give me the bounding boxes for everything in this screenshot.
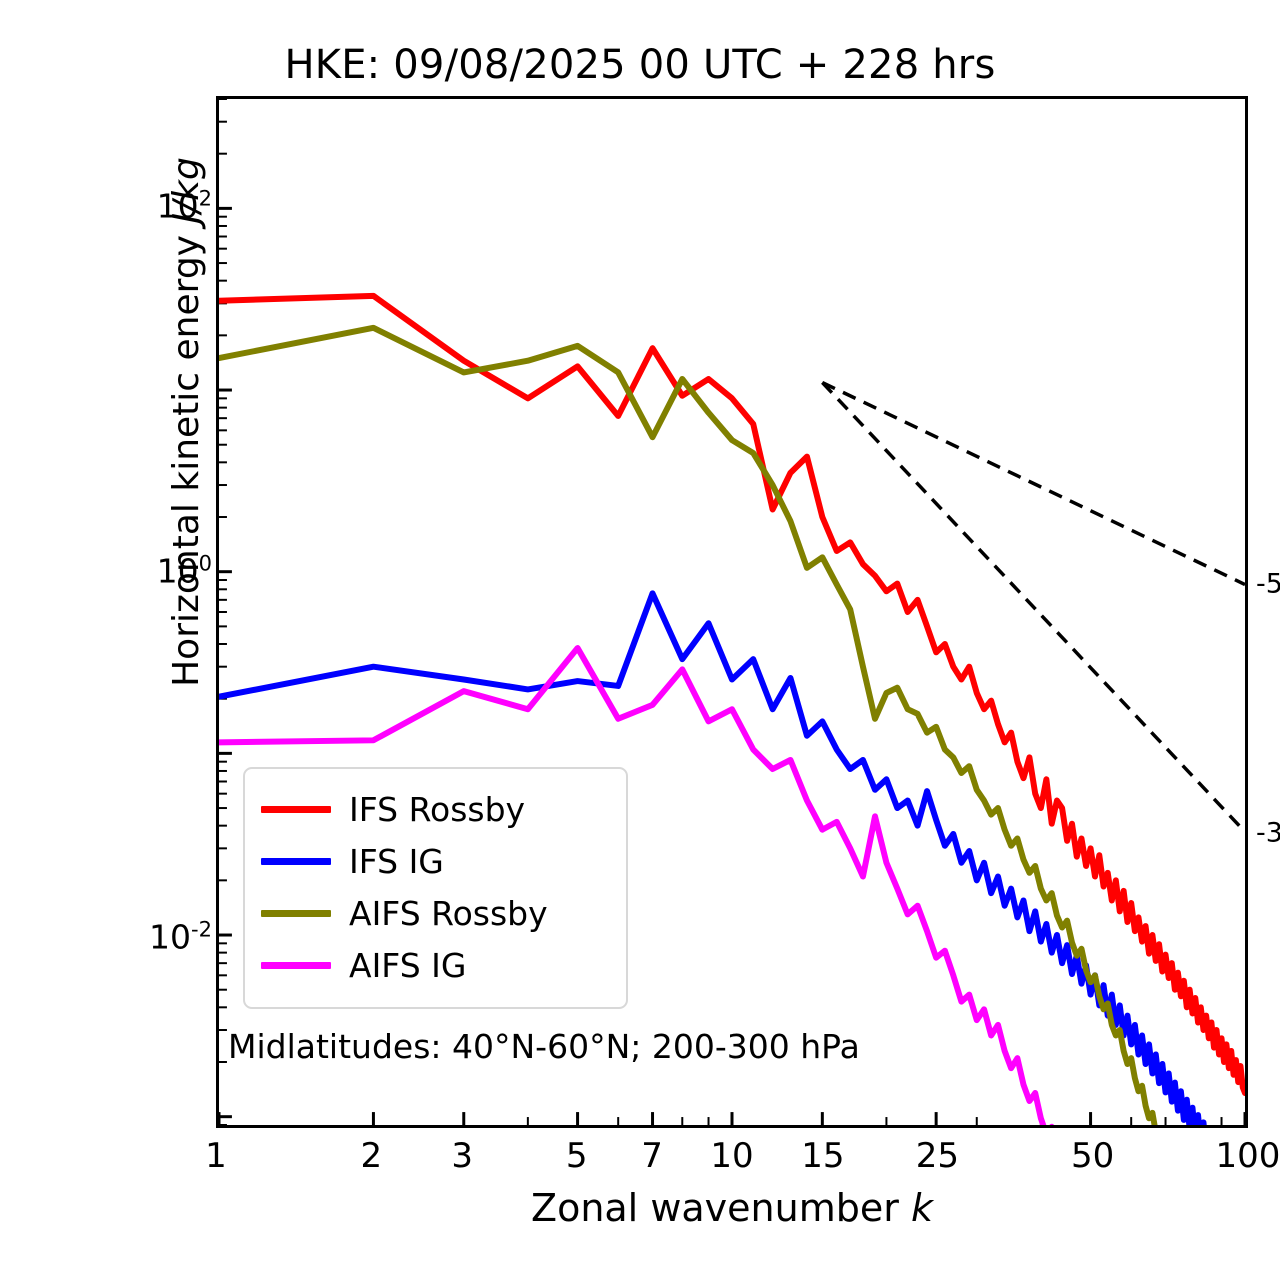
y-axis-label: Horizontal kinetic energy J/kg <box>156 72 216 772</box>
legend-color-swatch <box>261 962 331 969</box>
y-axis-label-main: Horizontal kinetic energy <box>166 224 207 687</box>
x-tick-label: 1 <box>205 1136 227 1176</box>
legend-item[interactable]: AIFS IG <box>261 939 610 991</box>
legend-color-swatch <box>261 858 331 865</box>
x-tick-label: 3 <box>451 1136 473 1176</box>
legend-item[interactable]: IFS Rossby <box>261 783 610 835</box>
slope-label-five-thirds: -5/3 <box>1256 569 1280 600</box>
x-tick-label: 2 <box>361 1136 383 1176</box>
x-tick-label: 15 <box>801 1136 844 1176</box>
chart-root: HKE: 09/08/2025 00 UTC + 228 hrs Horizon… <box>0 0 1280 1288</box>
y-tick-label: 102 <box>157 187 212 226</box>
x-axis-label: Zonal wavenumber k <box>216 1186 1248 1230</box>
legend-label: AIFS IG <box>349 949 466 982</box>
x-tick-label: 7 <box>641 1136 663 1176</box>
x-tick-label: 25 <box>916 1136 959 1176</box>
x-axis-label-main: Zonal wavenumber <box>531 1186 911 1230</box>
legend-item[interactable]: IFS IG <box>261 835 610 887</box>
y-tick-label: 10-2 <box>149 917 212 956</box>
slope-label-three: -3 <box>1256 818 1280 849</box>
x-tick-label: 100 <box>1216 1136 1280 1176</box>
y-tick-label: 100 <box>157 552 212 591</box>
legend-item[interactable]: AIFS Rossby <box>261 887 610 939</box>
legend: IFS RossbyIFS IGAIFS RossbyAIFS IG <box>243 767 628 1009</box>
x-tick-label: 50 <box>1071 1136 1114 1176</box>
legend-label: IFS Rossby <box>349 793 525 826</box>
legend-color-swatch <box>261 910 331 917</box>
legend-color-swatch <box>261 806 331 813</box>
x-tick-label: 5 <box>566 1136 588 1176</box>
x-axis-label-symbol: k <box>911 1186 933 1230</box>
legend-label: IFS IG <box>349 845 444 878</box>
legend-label: AIFS Rossby <box>349 897 548 930</box>
region-annotation: Midlatitudes: 40°N-60°N; 200-300 hPa <box>228 1027 860 1066</box>
slope-reference-lines <box>822 383 1245 832</box>
x-tick-label: 10 <box>710 1136 753 1176</box>
